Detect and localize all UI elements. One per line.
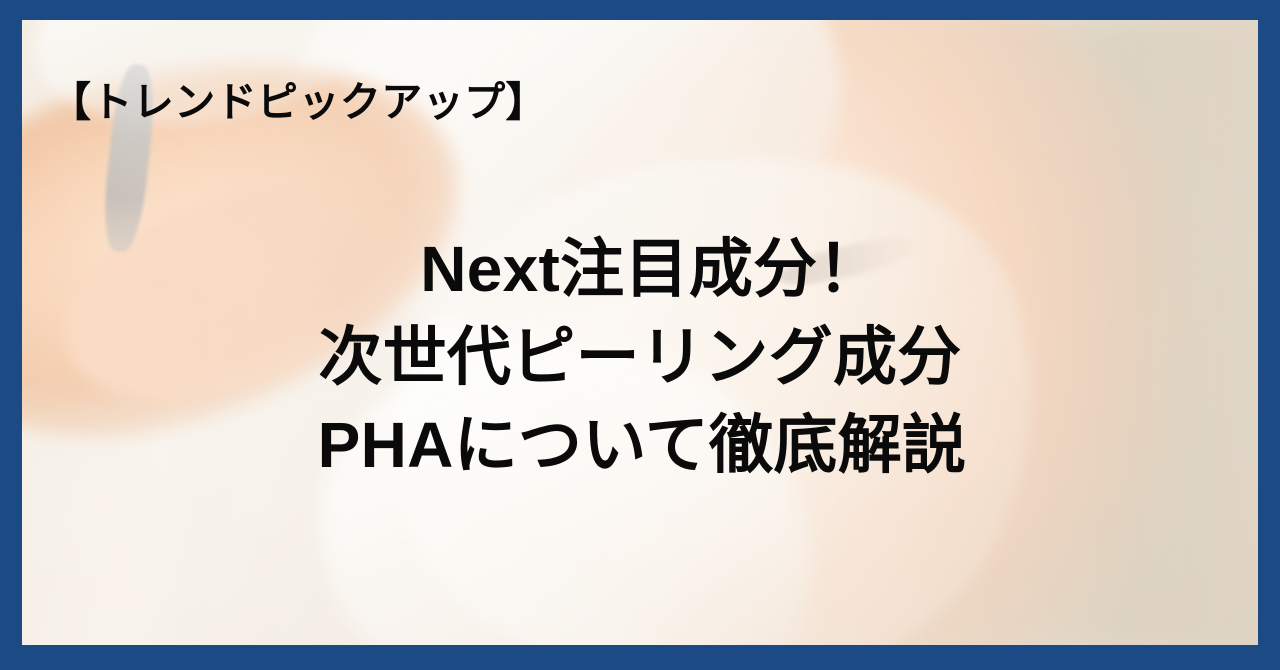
eyecatch-card: 【トレンドピックアップ】 Next注目成分！ 次世代ピーリング成分 PHAについ…: [0, 0, 1280, 670]
background-photo: 【トレンドピックアップ】 Next注目成分！ 次世代ピーリング成分 PHAについ…: [22, 20, 1258, 645]
text-overlay: 【トレンドピックアップ】 Next注目成分！ 次世代ピーリング成分 PHAについ…: [22, 20, 1258, 645]
headline-block: Next注目成分！ 次世代ピーリング成分 PHAについて徹底解説: [22, 225, 1258, 489]
headline-line-3: PHAについて徹底解説: [22, 401, 1258, 489]
trend-pickup-label: 【トレンドピックアップ】: [50, 82, 547, 123]
headline-line-1: Next注目成分！: [22, 225, 1258, 313]
headline-line-2: 次世代ピーリング成分: [22, 313, 1258, 401]
